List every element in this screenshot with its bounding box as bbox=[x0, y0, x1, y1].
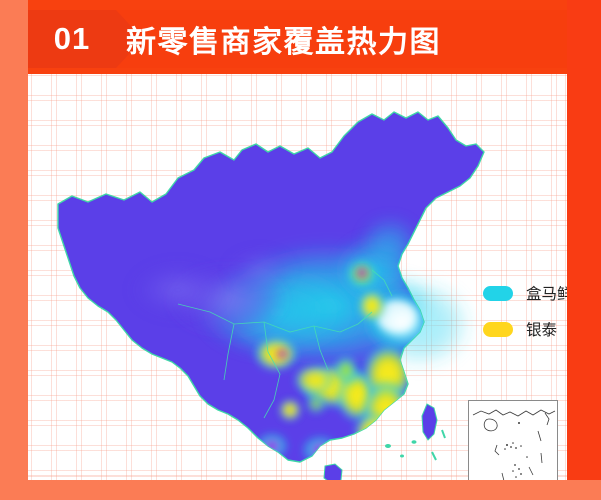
inset-svg bbox=[469, 401, 557, 480]
legend-right: 盒马鲜生 银泰 bbox=[483, 282, 567, 354]
badge-number: 01 bbox=[28, 10, 116, 68]
legend-bottom: 饿了么商家 天猫超市、淘鲜达商家 bbox=[86, 478, 284, 480]
legend-item[interactable]: 银泰 bbox=[483, 318, 567, 340]
page-background-left bbox=[0, 0, 28, 500]
legend-color-swatch-yintai bbox=[483, 322, 513, 337]
legend-color-swatch-hema bbox=[483, 286, 513, 301]
legend-label-hema: 盒马鲜生 bbox=[526, 282, 567, 304]
content-card: 盒马鲜生 银泰 饿了么商家 天猫超市、淘鲜达商家 bbox=[28, 74, 567, 480]
page-background-bottom bbox=[0, 480, 601, 500]
page-background-right bbox=[567, 0, 601, 500]
legend-label-eleme: 饿了么商家 bbox=[129, 478, 207, 480]
header: 01 新零售商家覆盖热力图 bbox=[0, 0, 601, 74]
page-title: 新零售商家覆盖热力图 bbox=[126, 10, 441, 68]
legend-item[interactable]: 盒马鲜生 bbox=[483, 282, 567, 304]
legend-item[interactable]: 饿了么商家 bbox=[86, 478, 284, 480]
south-china-sea-inset bbox=[468, 400, 558, 480]
legend-label-yintai: 银泰 bbox=[526, 318, 557, 340]
